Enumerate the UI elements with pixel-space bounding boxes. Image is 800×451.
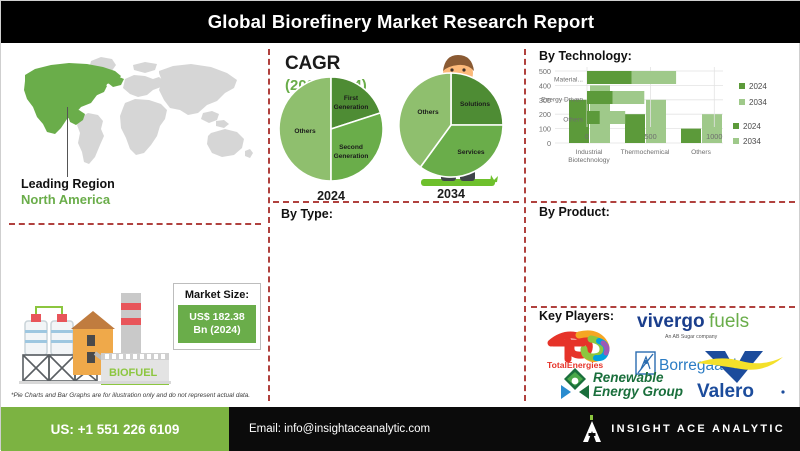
market-size-label: Market Size:	[178, 289, 256, 301]
leading-region-block: Leading Region North America	[21, 177, 115, 207]
svg-text:2024: 2024	[749, 82, 767, 91]
vivergo-fuels-logo: vivergo fuels An AB Sugar company	[635, 309, 777, 343]
svg-text:vivergo: vivergo	[637, 311, 705, 332]
middle-column: CAGR (2025-2034) 9.2%	[271, 47, 523, 405]
leading-region-value: North America	[21, 192, 115, 207]
svg-text:500: 500	[645, 132, 657, 141]
svg-text:Second: Second	[339, 144, 363, 151]
map-leader-line	[67, 107, 68, 177]
footer-brand: INSIGHT ACE ANALYTIC	[582, 415, 785, 443]
by-type-section: By Type:	[281, 207, 521, 221]
pie-chart-2024: First Generation Second Generation Other…	[275, 73, 387, 185]
by-product-section: By Product:	[539, 205, 797, 219]
insight-ace-a-logo	[582, 415, 602, 443]
svg-text:Industrial: Industrial	[576, 149, 603, 156]
infographic-poster: Global Biorefinery Market Research Repor…	[0, 0, 800, 450]
vertical-divider-left	[268, 49, 270, 401]
svg-text:Others: Others	[294, 128, 316, 135]
footer-bar: US: +1 551 226 6109 Email: info@insighta…	[1, 407, 800, 451]
key-players-section: Key Players: TotalEnergies vivergo	[539, 309, 800, 405]
svg-text:Others: Others	[563, 117, 583, 124]
svg-text:Biotechnology: Biotechnology	[568, 157, 610, 164]
svg-text:Renewable: Renewable	[593, 370, 664, 385]
by-technology-section: By Technology:	[539, 49, 797, 63]
market-size-value-line2: Bn (2024)	[180, 324, 254, 337]
svg-text:Valero: Valero	[697, 381, 754, 401]
pie-chart-2034: Solutions Services Others	[395, 69, 507, 181]
svg-text:Energy Group: Energy Group	[593, 384, 683, 399]
svg-text:Services: Services	[457, 149, 484, 156]
leading-region-label: Leading Region	[21, 177, 115, 191]
svg-text:First: First	[344, 95, 359, 102]
svg-text:Generation: Generation	[334, 153, 369, 160]
pie-2034-year-label: 2034	[395, 187, 507, 201]
market-size-box: Market Size: US$ 182.38 Bn (2024)	[173, 283, 261, 350]
footer-brand-text: INSIGHT ACE ANALYTIC	[611, 423, 785, 435]
footer-phone[interactable]: US: +1 551 226 6109	[1, 407, 229, 451]
svg-text:Others: Others	[691, 149, 711, 156]
pie-2024-year-label: 2024	[275, 189, 387, 203]
by-type-charts: First Generation Second Generation Other…	[273, 69, 519, 209]
key-players-title: Key Players:	[539, 309, 614, 323]
svg-text:An AB Sugar company: An AB Sugar company	[665, 334, 718, 340]
market-size-value: US$ 182.38 Bn (2024)	[178, 305, 256, 343]
svg-text:1000: 1000	[706, 132, 722, 141]
svg-text:fuels: fuels	[709, 311, 749, 332]
biofuel-factory-icon: BIOFUEL	[9, 285, 174, 405]
footer-contact-bar: Email: info@insightaceanalytic.com INSIG…	[229, 407, 800, 451]
svg-text:0: 0	[585, 132, 589, 141]
by-type-title: By Type:	[281, 207, 521, 221]
footer-email[interactable]: Email: info@insightaceanalytic.com	[249, 423, 430, 435]
by-technology-title: By Technology:	[539, 49, 797, 63]
svg-text:Others: Others	[417, 109, 439, 116]
svg-text:Thermochemical: Thermochemical	[621, 149, 670, 156]
by-product-chart: Material... Energy Driven Others 0 500 1…	[527, 65, 789, 149]
right-column: By Technology: 500 400 300 200 100	[527, 47, 799, 405]
market-size-value-line1: US$ 182.38	[180, 311, 254, 324]
left-column: Leading Region North America	[5, 47, 267, 405]
svg-text:Material...: Material...	[554, 77, 583, 84]
renewable-energy-group-logo: Renewable Energy Group	[559, 365, 689, 403]
disclaimer-note: *Pie Charts and Bar Graphs are for illus…	[11, 392, 267, 399]
by-product-title: By Product:	[539, 205, 797, 219]
svg-text:Generation: Generation	[334, 104, 369, 111]
page-title: Global Biorefinery Market Research Repor…	[208, 11, 595, 33]
valero-logo: Valero	[691, 349, 795, 401]
svg-text:Energy Driven: Energy Driven	[541, 97, 583, 104]
svg-text:BIOFUEL: BIOFUEL	[109, 367, 158, 379]
svg-text:Solutions: Solutions	[460, 101, 490, 108]
svg-text:2034: 2034	[749, 98, 767, 107]
world-map-icon	[13, 51, 263, 169]
header-bar: Global Biorefinery Market Research Repor…	[1, 1, 800, 43]
vertical-divider-right	[524, 49, 526, 401]
